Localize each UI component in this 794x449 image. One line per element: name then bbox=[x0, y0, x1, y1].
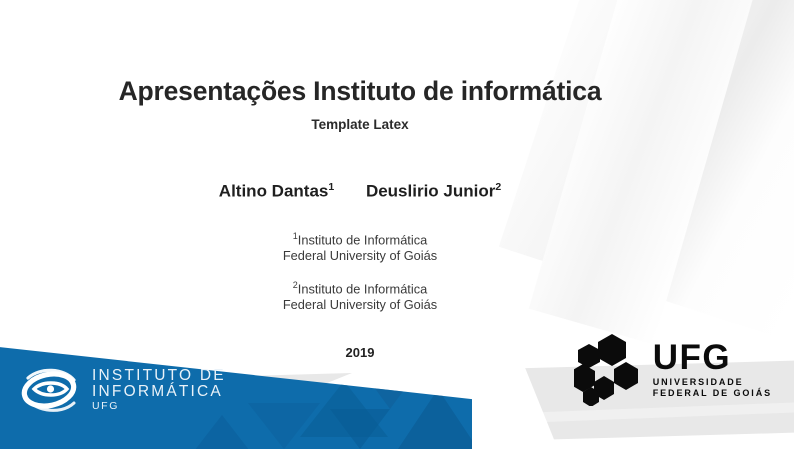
author-name: Deuslirio Junior bbox=[366, 182, 495, 201]
institute-logo-line2: INFORMÁTICA bbox=[92, 384, 226, 400]
affiliation-entry: 1Instituto de Informática Federal Univer… bbox=[0, 231, 720, 265]
institute-logo: INSTITUTO DE INFORMÁTICA UFG bbox=[18, 361, 226, 419]
affiliation-institute: Instituto de Informática bbox=[298, 281, 427, 296]
presentation-title-slide: INSTITUTO DE INFORMÁTICA UFG UFG UNIVERS… bbox=[0, 0, 794, 449]
affiliation-institute: Instituto de Informática bbox=[298, 232, 427, 247]
slide-content: Apresentações Instituto de informática T… bbox=[0, 0, 720, 360]
affiliation-entry: 2Instituto de Informática Federal Univer… bbox=[0, 280, 720, 314]
facet-triangle bbox=[188, 415, 256, 449]
affiliation-line2: Federal University of Goiás bbox=[0, 248, 720, 264]
page-title: Apresentações Instituto de informática bbox=[0, 76, 720, 107]
eye-swirl-icon bbox=[18, 361, 82, 419]
institute-logo-line1: INSTITUTO DE bbox=[92, 368, 226, 384]
facet-triangle bbox=[248, 403, 320, 449]
author-marker: 2 bbox=[495, 181, 501, 193]
affiliation-line1: 1Instituto de Informática bbox=[0, 231, 720, 249]
page-subtitle: Template Latex bbox=[0, 117, 720, 132]
institute-logo-text: INSTITUTO DE INFORMÁTICA UFG bbox=[92, 368, 226, 413]
facet-triangle bbox=[330, 409, 390, 449]
author-list: Altino Dantas1 Deuslirio Junior2 bbox=[0, 181, 720, 202]
author-entry: Altino Dantas1 bbox=[219, 181, 334, 202]
author-name: Altino Dantas bbox=[219, 182, 329, 201]
affiliation-line1: 2Instituto de Informática bbox=[0, 280, 720, 298]
university-line2: FEDERAL DE GOIÁS bbox=[653, 389, 772, 398]
university-line1: UNIVERSIDADE bbox=[653, 378, 772, 387]
facet-triangle bbox=[398, 389, 472, 449]
author-entry: Deuslirio Junior2 bbox=[366, 181, 501, 202]
author-marker: 1 bbox=[328, 181, 334, 193]
presentation-year: 2019 bbox=[0, 345, 720, 360]
institute-logo-line3: UFG bbox=[92, 401, 226, 412]
affiliation-line2: Federal University of Goiás bbox=[0, 297, 720, 313]
